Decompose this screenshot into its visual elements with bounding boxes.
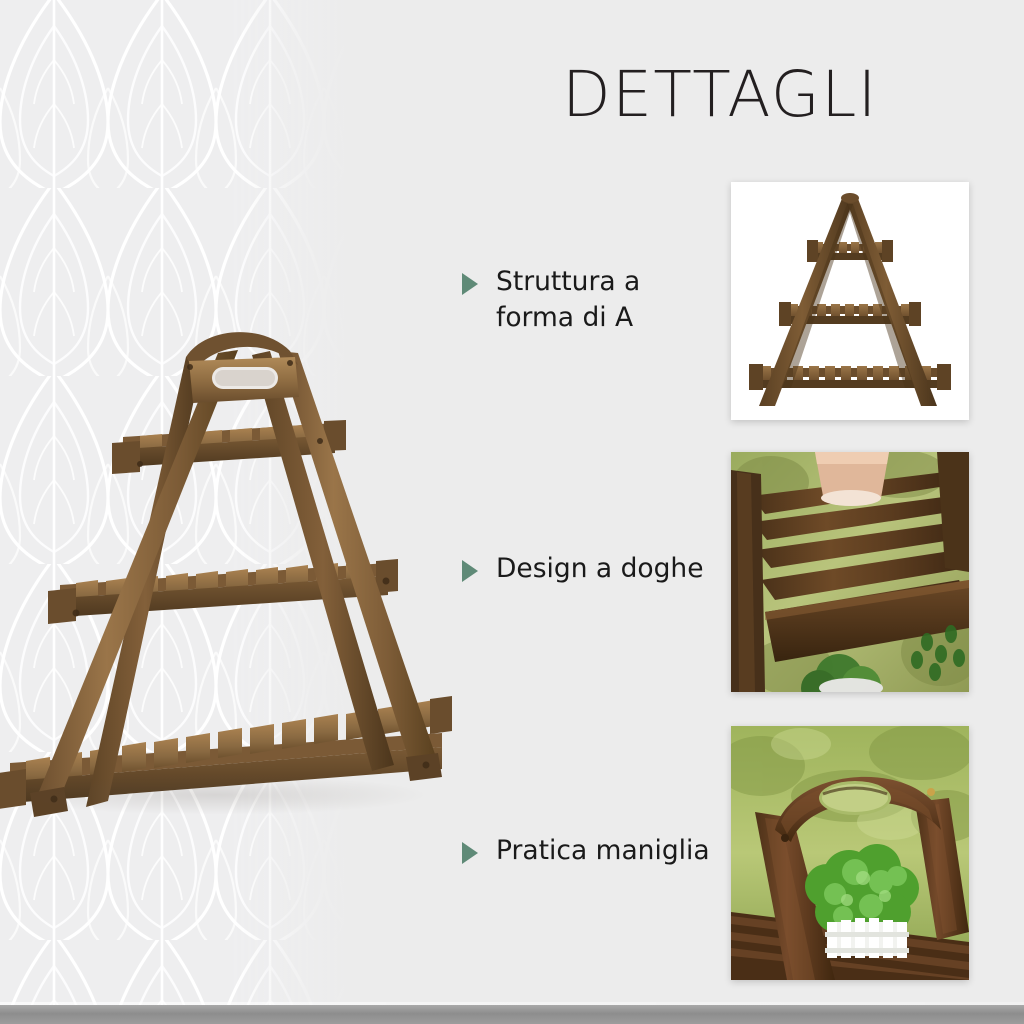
feature-thumbnail-handle [731,726,969,980]
screw-dot [927,788,935,796]
feature-thumbnail-slat-design [731,452,969,692]
feature-item-pratica-maniglia: Pratica maniglia [462,833,722,869]
page-title: DETTAGLI [440,58,1000,131]
leg-rear-right [252,351,394,771]
triangle-right-icon [462,273,478,295]
terracotta-pot-icon [815,452,889,506]
feature-item-struttura-a-forma-di-a: Struttura a forma di A [462,264,722,336]
feature-label: Design a doghe [496,551,704,587]
feature-item-design-a-doghe: Design a doghe [462,551,722,587]
hero-product-image [0,295,460,840]
feature-label: Struttura a forma di A [496,264,640,336]
triangle-right-icon [462,560,478,582]
screw-dot [781,834,789,842]
product-detail-page: DETTAGLI Struttura a forma di A Design a… [0,0,1024,1024]
slat-closeup-illustration [731,452,969,692]
handle-closeup-illustration [731,726,969,980]
triangle-right-icon [462,842,478,864]
a-frame-stand-illustration [731,182,969,420]
floor-strip [0,1005,1024,1024]
feature-thumbnail-a-frame [731,182,969,420]
handle-plate [186,332,299,403]
picket-planter-icon [825,918,909,958]
plant-stand-illustration [0,295,460,840]
hero-product-shadow [0,775,430,815]
feature-label: Pratica maniglia [496,833,710,869]
